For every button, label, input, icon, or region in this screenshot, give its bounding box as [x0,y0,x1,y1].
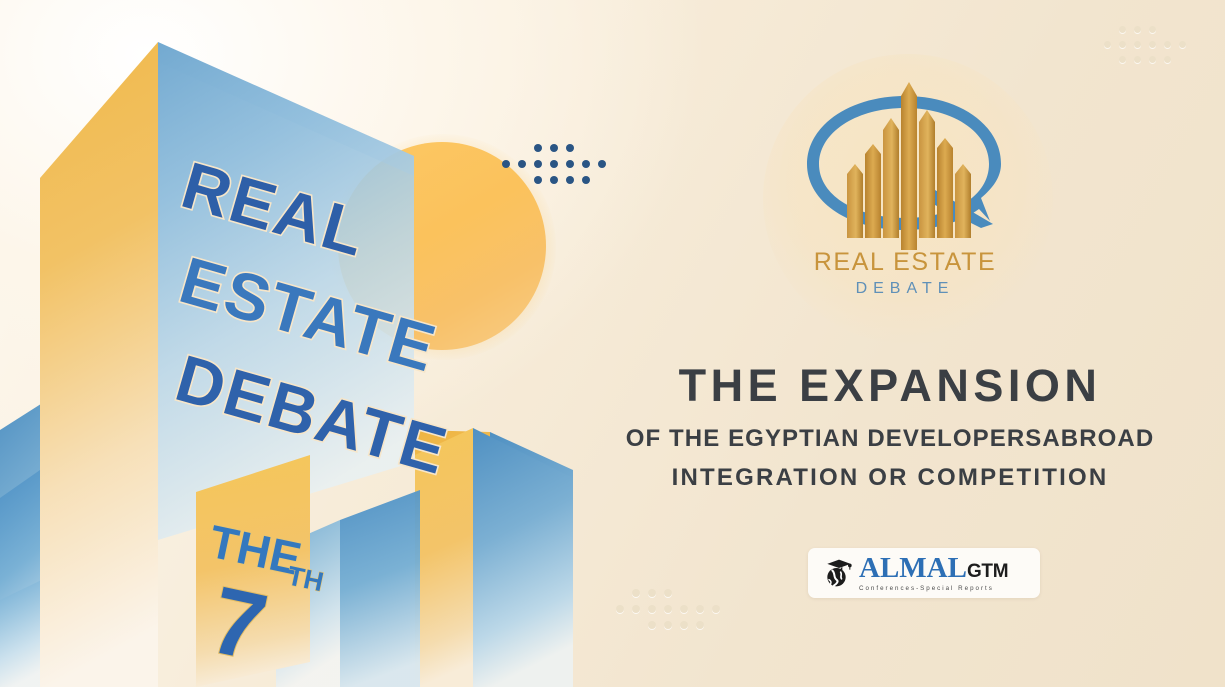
sponsor-badge[interactable]: ALMAL GTM Conferences-Special Reports [808,548,1040,598]
dot-grid-pattern-icon [498,140,610,188]
promo-banner: REAL ESTATE DEBATE THE TH 7 [0,0,1225,687]
dot-grid-pattern-topright-icon [1100,22,1190,67]
headline-subtitle-2: INTEGRATION OR COMPETITION [590,464,1190,492]
dot-grid-pattern-bottom-icon [612,585,724,633]
logo-subname: DEBATE [785,280,1025,298]
sponsor-tagline: Conferences-Special Reports [859,585,1008,592]
sponsor-name: ALMAL [859,554,967,583]
page-title: THE EXPANSION [590,360,1190,412]
speech-bubble-skyscraper-logo-icon [785,78,1025,258]
logo-name: REAL ESTATE [785,248,1025,277]
headline-block: THE EXPANSION OF THE EGYPTIAN DEVELOPERS… [590,360,1190,492]
sponsor-suffix: GTM [967,562,1008,581]
city-illustration: REAL ESTATE DEBATE THE TH 7 [0,0,600,687]
headline-subtitle-1: OF THE EGYPTIAN DEVELOPERSABROAD [590,425,1190,453]
globe-graduation-cap-icon [822,558,856,588]
